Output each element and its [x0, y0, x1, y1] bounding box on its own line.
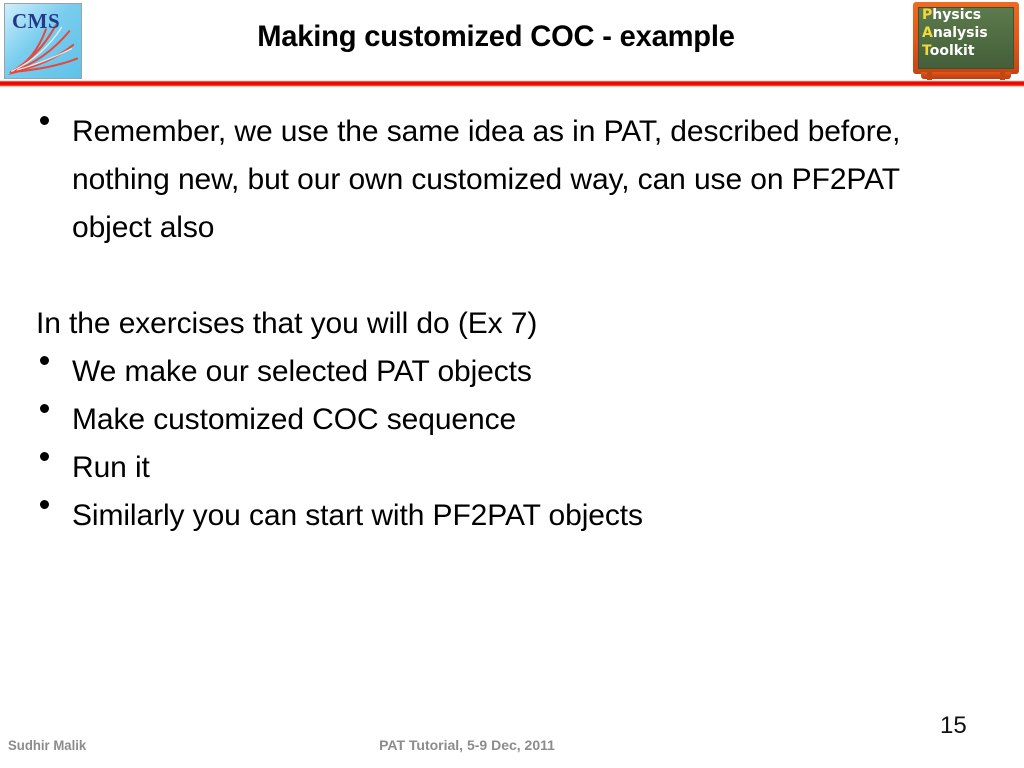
bullet-block: Similarly you can start with PF2PAT obje… [36, 492, 986, 540]
pat-logo-leg-left [927, 72, 932, 80]
header-red-rule [0, 80, 1024, 87]
paragraph-exercises-intro: In the exercises that you will do (Ex 7) [36, 300, 986, 348]
bullet-block: Run it [36, 444, 986, 492]
bullet-text: We make our selected PAT objects [72, 348, 986, 396]
bullet-text: Make customized COC sequence [72, 396, 986, 444]
bullet-block: Remember, we use the same idea as in PAT… [36, 108, 956, 252]
pat-logo-cap-t: T [922, 43, 930, 59]
bullet-text: Run it [72, 444, 986, 492]
paragraph-text: In the exercises that you will do (Ex 7) [36, 300, 986, 348]
bullet-text: Remember, we use the same idea as in PAT… [72, 108, 956, 252]
bullet-item-remember: Remember, we use the same idea as in PAT… [36, 108, 956, 252]
bullet-block: Make customized COC sequence [36, 396, 986, 444]
bullet-dot-icon [40, 500, 49, 509]
bullet-dot-icon [40, 356, 49, 365]
pat-logo-chalk-tray [921, 72, 1011, 79]
bullet-text: Similarly you can start with PF2PAT obje… [72, 492, 986, 540]
pat-logo-cap-p: P [922, 7, 932, 23]
cms-logo-label: CMS [12, 9, 60, 34]
slide: CMS Making customized COC - example Phys… [0, 0, 1024, 768]
footer-event: PAT Tutorial, 5-9 Dec, 2011 [0, 737, 1024, 753]
bullet-item-make-coc: Make customized COC sequence [36, 396, 986, 444]
pat-logo-rest-toolkit: oolkit [930, 43, 975, 59]
bullet-dot-icon [40, 116, 49, 125]
page-title: Making customized COC - example [108, 20, 884, 54]
bullet-item-make-selected: We make our selected PAT objects [36, 348, 986, 396]
pat-logo-rest-physics: hysics [932, 7, 981, 23]
bullet-block: We make our selected PAT objects [36, 348, 986, 396]
bullet-dot-icon [40, 404, 49, 413]
pat-logo-line-analysis: Analysis [922, 26, 988, 40]
slide-header: CMS Making customized COC - example Phys… [0, 0, 1024, 92]
cms-logo-icon: CMS [4, 3, 82, 79]
pat-logo-leg-right [1000, 72, 1005, 80]
pat-logo-line-physics: Physics [922, 8, 981, 22]
pat-logo-icon: Physics Analysis Toolkit [913, 2, 1019, 80]
bullet-dot-icon [40, 452, 49, 461]
pat-logo-rest-analysis: nalysis [933, 25, 988, 41]
slide-footer: Sudhir Malik PAT Tutorial, 5-9 Dec, 2011 [0, 728, 1024, 768]
bullet-item-run-it: Run it [36, 444, 986, 492]
pat-logo-line-toolkit: Toolkit [922, 44, 975, 58]
pat-logo-cap-a: A [922, 25, 933, 41]
bullet-item-pf2pat: Similarly you can start with PF2PAT obje… [36, 492, 986, 540]
